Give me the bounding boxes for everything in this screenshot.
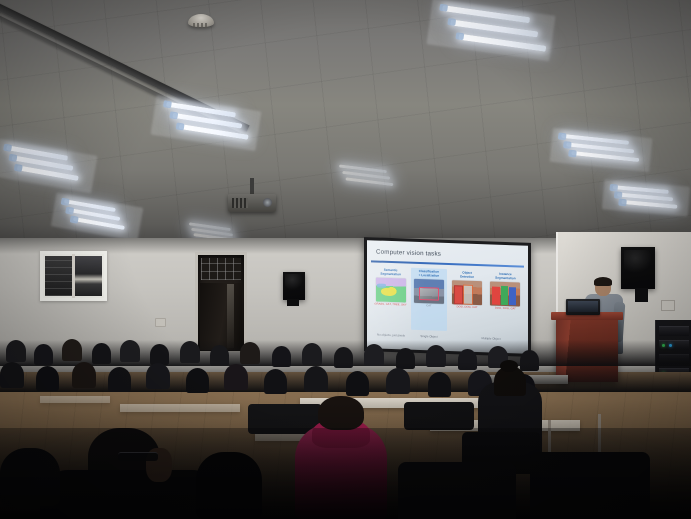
lecture-hall-photo: Computer vision tasks Semantic Segmentat… [0,0,691,519]
panel-tag: DOG, DOG, CAT [495,307,516,311]
panel-thumbnail-instance [490,281,520,306]
slide-panel-row: Semantic Segmentation GRASS, CAT, TREE, … [373,266,523,333]
panel-thumbnail-detection [452,280,482,305]
smoke-detector-icon [188,14,214,27]
audience-head [120,340,140,362]
audience-head [186,368,209,393]
audience-head [72,362,96,388]
audience-head-foreground [196,452,262,519]
audience-head [146,363,170,389]
door-transom-window [201,258,241,280]
panel-label: Semantic Segmentation [380,269,400,278]
slide-caption-no-objects: No objects, just pixels [373,332,409,337]
chair-back [404,402,474,430]
light-fixture [609,185,682,211]
audience-head [346,371,369,396]
window-pane-right [75,256,102,296]
audience-head [318,396,364,430]
sliding-window [40,251,107,301]
projector-body [228,194,276,212]
projector-vent [232,198,248,208]
audience-head [0,362,24,388]
projection-screen: Computer vision tasks Semantic Segmentat… [367,240,528,354]
audience-head [224,364,248,390]
panel-label: Classification + Localization [419,270,440,279]
presenter-hair [594,277,612,286]
window-blind-slats [45,256,72,296]
panel-tag: CAT [426,304,431,307]
audience-head [6,340,26,362]
rack-wall-plate [661,300,675,311]
audience-head [264,369,287,394]
panel-tag: GRASS, CAT, TREE, SKY [374,302,406,306]
slide-panel-classification-localization: Classification + Localization CAT [411,268,446,331]
audience-head [36,366,59,391]
panel-tag: DOG, DOG, CAT [457,305,478,309]
audience-head [304,366,328,392]
audience-head [386,368,410,394]
panel-thumbnail-classification [414,279,444,304]
panel-thumbnail-semantic [376,277,406,302]
glasses-icon [118,452,158,461]
projector-mount-pole [250,178,254,194]
slide-panel-semantic-segmentation: Semantic Segmentation GRASS, CAT, TREE, … [373,266,408,329]
panel-label: Instance Segmentation [495,273,515,282]
slide-title: Computer vision tasks [376,249,441,258]
slide-panel-instance-segmentation: Instance Segmentation DOG, DOG, CAT [488,270,523,333]
window-mullion [72,254,75,298]
wall-outlet [155,318,166,327]
audience-head [240,342,260,364]
chair-back-foreground [398,462,516,519]
wall-speaker [621,247,655,289]
wall-speaker [283,272,305,300]
desk-row [40,396,110,403]
audience-head [62,339,82,361]
door-gap-light [227,284,234,348]
audience-hairbun [500,360,518,372]
presenter-laptop [566,299,600,315]
audience-head [428,372,451,397]
projector-lens-icon [263,198,272,207]
chair-back-foreground [530,452,650,519]
desk-row [120,404,240,412]
audience-member-foreground [40,470,220,519]
audience-head [180,341,200,363]
audience-head [92,343,111,364]
slide-caption-single-object: Single Object [411,334,447,339]
audience-head-foreground [0,448,60,506]
slide-panel-object-detection: Object Detection DOG, DOG, CAT [450,269,485,332]
projected-slide: Computer vision tasks Semantic Segmentat… [367,240,528,354]
audience-head [108,367,131,392]
light-fixture [557,134,645,167]
panel-label: Object Detection [460,271,474,279]
